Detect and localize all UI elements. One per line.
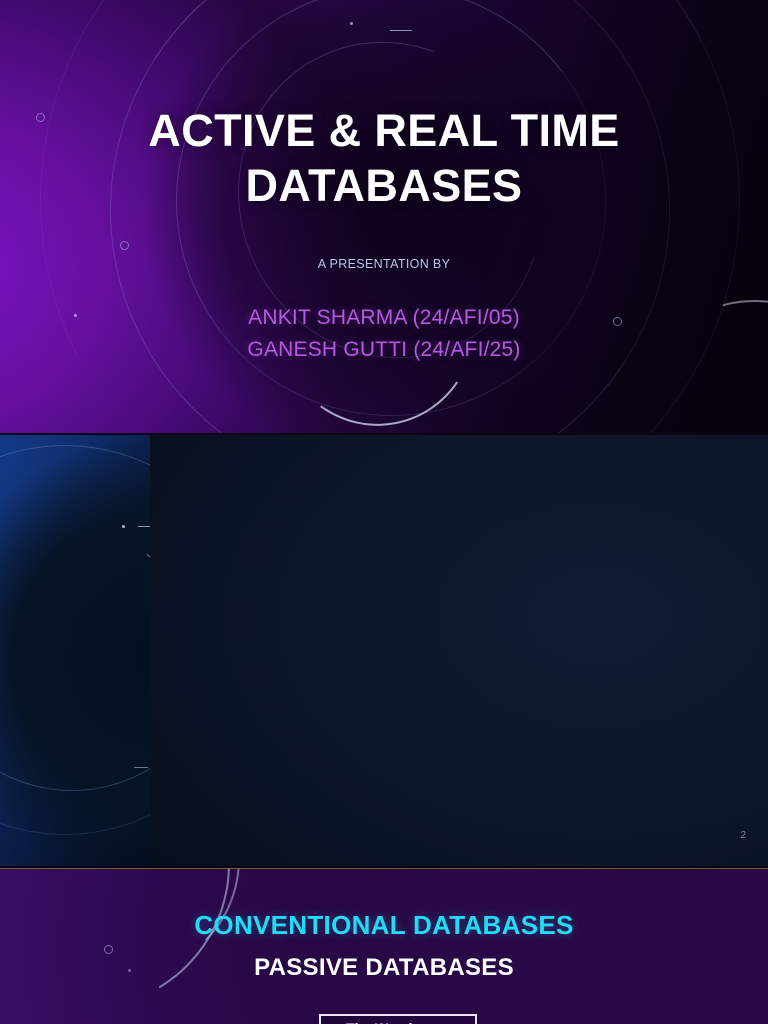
slide-title[interactable]: ACTIVE & REAL TIME DATABASES A PRESENTAT… (0, 0, 768, 433)
slide-1-subtitle: A PRESENTATION BY (0, 257, 768, 271)
decorative-band-tick-a (138, 526, 150, 527)
slide-passive-databases[interactable]: PASSIVE DATABASES Traditional database m… (0, 435, 768, 866)
decorative-band-speck (122, 525, 125, 528)
slide-2-left-accent-band (0, 435, 150, 866)
decorative-circle-dot-b (120, 241, 129, 250)
slide-1-decorative-arcs (0, 0, 768, 433)
decorative-band-tick-b (134, 767, 148, 768)
decorative-ring-large (58, 0, 722, 433)
decorative-ring-outer (0, 0, 768, 433)
slide-3-title-line-2: PASSIVE DATABASES (0, 954, 768, 982)
slide-conventional-databases[interactable] (0, 868, 768, 1024)
decorative-speck-b (350, 22, 353, 25)
slide-1-author-1: ANKIT SHARMA (24/AFI/05) (0, 302, 768, 334)
slide-1-title: ACTIVE & REAL TIME DATABASES (0, 104, 768, 214)
presentation-scroll-view[interactable]: ACTIVE & REAL TIME DATABASES A PRESENTAT… (0, 0, 768, 1024)
slide-3-callout-box: The Warehouse (319, 1014, 477, 1024)
decorative-ring-medium (148, 0, 634, 433)
slide-2-page-number: 2 (740, 830, 746, 841)
slide-1-author-2: GANESH GUTTI (24/AFI/25) (0, 334, 768, 366)
decorative-tick-a (390, 30, 412, 31)
slide-3-title-line-1: CONVENTIONAL DATABASES (0, 910, 768, 941)
decorative-circle-dot-d (104, 945, 113, 954)
slide-1-author-list: ANKIT SHARMA (24/AFI/05) GANESH GUTTI (2… (0, 302, 768, 366)
